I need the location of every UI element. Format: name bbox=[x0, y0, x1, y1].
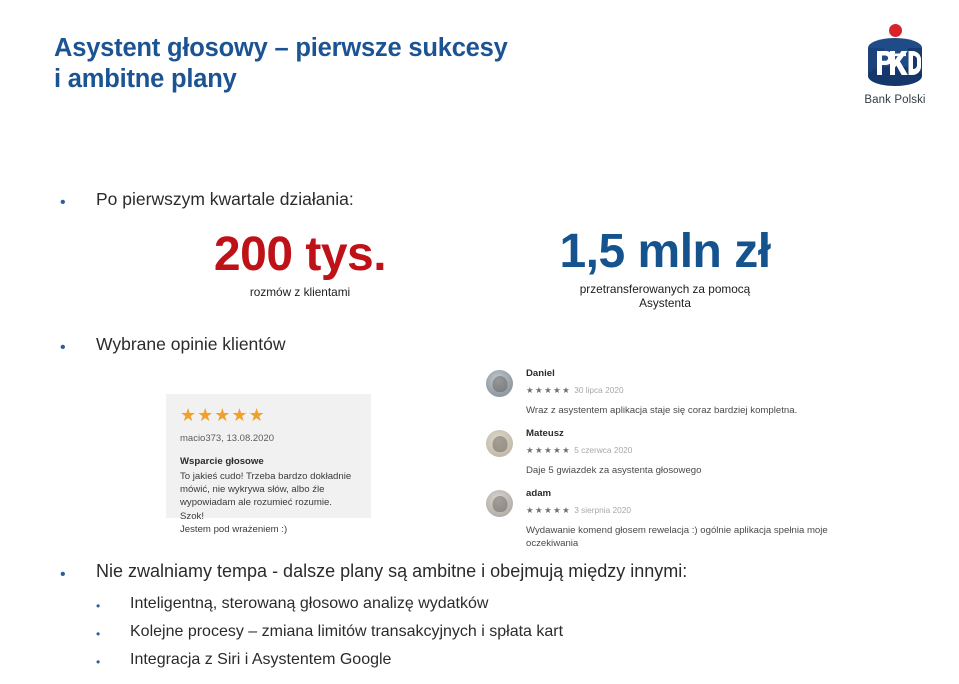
reviews-panel: Daniel ★★★★★30 lipca 2020 Wraz z asysten… bbox=[486, 368, 836, 561]
review-date: 3 sierpnia 2020 bbox=[574, 505, 631, 515]
stat-transferred-value: 1,5 mln zł bbox=[520, 225, 810, 279]
stat-transferred-caption: przetransferowanych za pomocą Asystenta bbox=[520, 282, 810, 310]
avatar bbox=[486, 430, 513, 457]
plan-label: Integracja z Siri i Asystentem Google bbox=[130, 649, 391, 671]
list-item: Integracja z Siri i Asystentem Google bbox=[96, 649, 563, 671]
list-item: Mateusz ★★★★★5 czerwca 2020 Daje 5 gwiaz… bbox=[486, 428, 836, 477]
featured-review-meta: macio373, 13.08.2020 bbox=[180, 433, 357, 444]
pko-logo-mark bbox=[860, 24, 930, 90]
bullet-customer-opinions: Wybrane opinie klientów bbox=[56, 333, 286, 356]
review-rating: ★★★★★5 czerwca 2020 bbox=[526, 443, 836, 456]
stars-icon: ★★★★★ bbox=[526, 385, 571, 395]
featured-review-body: To jakieś cudo! Trzeba bardzo dokładnie … bbox=[180, 470, 357, 536]
review-rating: ★★★★★30 lipca 2020 bbox=[526, 383, 836, 396]
plan-label: Inteligentną, sterowaną głosowo analizę … bbox=[130, 593, 488, 615]
bullet-dot-icon bbox=[56, 560, 96, 583]
logo-red-dot-icon bbox=[889, 24, 902, 37]
featured-review-stars-icon: ★★★★★ bbox=[180, 406, 357, 426]
logo-cylinder-icon bbox=[867, 37, 923, 86]
review-date: 5 czerwca 2020 bbox=[574, 445, 632, 455]
review-rating: ★★★★★3 sierpnia 2020 bbox=[526, 503, 836, 516]
page-title: Asystent głosowy – pierwsze sukcesy i am… bbox=[54, 33, 508, 95]
list-item: Kolejne procesy – zmiana limitów transak… bbox=[96, 621, 563, 643]
logo-caption: Bank Polski bbox=[845, 94, 945, 106]
stat-calls-caption: rozmów z klientami bbox=[180, 285, 420, 299]
reviewer-name: Daniel bbox=[526, 368, 836, 380]
featured-review-card: ★★★★★ macio373, 13.08.2020 Wsparcie głos… bbox=[166, 394, 371, 518]
stat-calls: 200 tys. rozmów z klientami bbox=[180, 228, 420, 299]
bullet-dot-icon bbox=[56, 333, 96, 356]
stat-transferred: 1,5 mln zł przetransferowanych za pomocą… bbox=[520, 225, 810, 310]
review-comment: Wydawanie komend głosem rewelacja :) ogó… bbox=[526, 524, 836, 550]
review-comment: Wraz z asystentem aplikacja staje się co… bbox=[526, 404, 836, 417]
avatar bbox=[486, 370, 513, 397]
plans-list: Inteligentną, sterowaną głosowo analizę … bbox=[96, 593, 563, 677]
avatar-face-icon bbox=[492, 376, 507, 392]
avatar-face-icon bbox=[492, 436, 507, 452]
bullet-first-quarter: Po pierwszym kwartale działania: bbox=[56, 188, 354, 211]
review-date: 30 lipca 2020 bbox=[574, 385, 623, 395]
bullet-dot-icon bbox=[96, 593, 130, 612]
bullet-dot-icon bbox=[96, 649, 130, 668]
list-item: Daniel ★★★★★30 lipca 2020 Wraz z asysten… bbox=[486, 368, 836, 417]
bullet-dot-icon bbox=[56, 188, 96, 211]
bullet-first-quarter-label: Po pierwszym kwartale działania: bbox=[96, 188, 354, 211]
reviewer-name: Mateusz bbox=[526, 428, 836, 440]
bullet-customer-opinions-label: Wybrane opinie klientów bbox=[96, 333, 286, 356]
stars-icon: ★★★★★ bbox=[526, 445, 571, 455]
plan-label: Kolejne procesy – zmiana limitów transak… bbox=[130, 621, 563, 643]
pko-bank-polski-logo: Bank Polski bbox=[845, 24, 945, 106]
review-comment: Daje 5 gwiazdek za asystenta głosowego bbox=[526, 464, 836, 477]
stars-icon: ★★★★★ bbox=[526, 505, 571, 515]
list-item: Inteligentną, sterowaną głosowo analizę … bbox=[96, 593, 563, 615]
avatar bbox=[486, 490, 513, 517]
avatar-face-icon bbox=[492, 496, 507, 512]
reviewer-name: adam bbox=[526, 488, 836, 500]
list-item: adam ★★★★★3 sierpnia 2020 Wydawanie kome… bbox=[486, 488, 836, 550]
bullet-future-plans-label: Nie zwalniamy tempa - dalsze plany są am… bbox=[96, 560, 687, 583]
featured-review-heading: Wsparcie głosowe bbox=[180, 456, 357, 467]
bullet-future-plans: Nie zwalniamy tempa - dalsze plany są am… bbox=[56, 560, 687, 583]
bullet-dot-icon bbox=[96, 621, 130, 640]
stat-calls-value: 200 tys. bbox=[180, 228, 420, 282]
